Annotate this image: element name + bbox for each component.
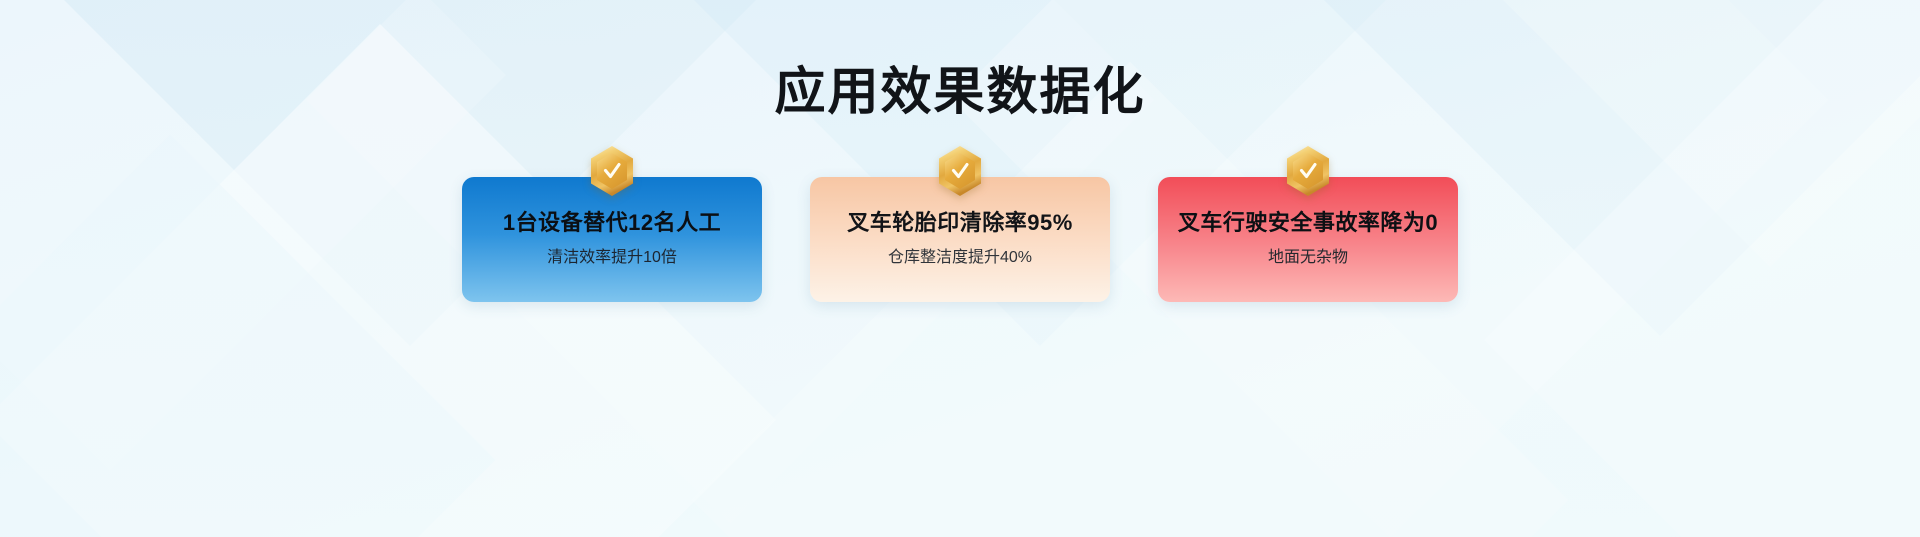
metric-card-title: 叉车行驶安全事故率降为0: [1178, 208, 1438, 238]
metric-card-subtitle: 仓库整洁度提升40%: [888, 247, 1032, 269]
page-title: 应用效果数据化: [0, 62, 1920, 122]
metric-card-tire-mark-removal[interactable]: 叉车轮胎印清除率95% 仓库整洁度提升40%: [810, 177, 1110, 302]
slide-canvas: 应用效果数据化: [0, 0, 1920, 537]
gold-hexagon-check-badge-icon: [584, 143, 640, 199]
metric-card-subtitle: 清洁效率提升10倍: [547, 247, 677, 269]
metric-card-safety-incident-rate[interactable]: 叉车行驶安全事故率降为0 地面无杂物: [1158, 177, 1458, 302]
metric-card-row: 1台设备替代12名人工 清洁效率提升10倍: [0, 177, 1920, 302]
gold-hexagon-check-badge-icon: [1280, 143, 1336, 199]
metric-card-title: 1台设备替代12名人工: [503, 208, 721, 238]
metric-card-equipment-replacement[interactable]: 1台设备替代12名人工 清洁效率提升10倍: [462, 177, 762, 302]
metric-card-title: 叉车轮胎印清除率95%: [847, 208, 1073, 238]
metric-card-subtitle: 地面无杂物: [1268, 247, 1348, 269]
gold-hexagon-check-badge-icon: [932, 143, 988, 199]
